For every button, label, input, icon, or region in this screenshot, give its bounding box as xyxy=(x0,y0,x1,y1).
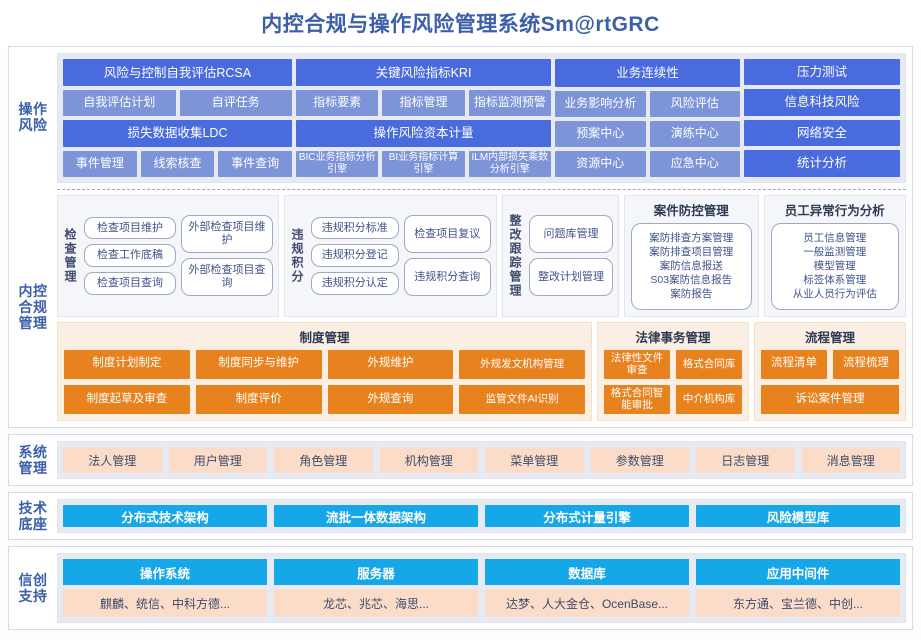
op-row: 事件管理 线索核查 事件查询 xyxy=(63,151,292,176)
operational-risk-section: 风险与控制自我评估RCSA 自我评估计划 自评任务 损失数据收集LDC 事件管理… xyxy=(57,53,906,183)
pill-item[interactable]: 外部检查项目查询 xyxy=(181,258,273,296)
panel-rectification-tracking: 整改跟踪管理 问题库管理 整改计划管理 xyxy=(502,195,619,317)
op-row: BIC业务指标分析引擎 BI业务指标计算引擎 ILM内部损失乘数分析引擎 xyxy=(296,151,551,176)
xc-body: 达梦、人大金仓、OcenBase... xyxy=(485,589,689,617)
orange-item[interactable]: 外规维护 xyxy=(328,350,454,379)
group-item: 案防报告 xyxy=(670,287,712,301)
op-header-ldc[interactable]: 损失数据收集LDC xyxy=(63,120,292,147)
xc-column-middleware: 应用中间件 东方通、宝兰德、中创... xyxy=(696,559,900,617)
op-item[interactable]: 线索核查 xyxy=(141,151,215,176)
sys-item-user[interactable]: 用户管理 xyxy=(169,447,268,473)
orange-column: 制度计划制定 制度起草及审查 xyxy=(64,350,190,414)
pill-item[interactable]: 违规积分登记 xyxy=(311,244,399,267)
op-header-rcsa[interactable]: 风险与控制自我评估RCSA xyxy=(63,59,292,86)
orange-box-policy-management: 制度管理 制度计划制定 制度起草及审查 制度同步与维护 制度评价 xyxy=(57,322,592,421)
orange-column: 格式合同库 中介机构库 xyxy=(676,350,742,414)
orange-box-title: 流程管理 xyxy=(761,327,899,346)
xc-head[interactable]: 数据库 xyxy=(485,559,689,585)
internal-control-top-row: 检查管理 检查项目维护 检查工作底稿 检查项目查询 外部检查项目维护 外部检查项… xyxy=(57,195,906,317)
tech-item-risk-model-lib[interactable]: 风险模型库 xyxy=(696,505,900,527)
op-item[interactable]: 指标管理 xyxy=(382,90,464,115)
strip-inner: 分布式技术架构 流批一体数据架构 分布式计量引擎 风险模型库 xyxy=(57,499,906,533)
orange-item[interactable]: 制度计划制定 xyxy=(64,350,190,379)
op-column-bcm: 业务连续性 业务影响分析 风险评估 预案中心 演练中心 资源中心 应急中心 xyxy=(555,59,740,177)
op-row: 预案中心 演练中心 xyxy=(555,121,740,147)
sys-item-menu[interactable]: 菜单管理 xyxy=(485,447,584,473)
xc-column-os: 操作系统 麒麟、统信、中科方德... xyxy=(63,559,267,617)
pill-item[interactable]: 检查项目复议 xyxy=(404,215,492,253)
op-item[interactable]: 演练中心 xyxy=(650,121,741,147)
orange-item[interactable]: 格式合同智能审批 xyxy=(604,385,670,414)
group-item: 案防排查方案管理 xyxy=(649,231,733,245)
card-body: 风险与控制自我评估RCSA 自我评估计划 自评任务 损失数据收集LDC 事件管理… xyxy=(57,47,912,427)
strip-inner: 操作系统 麒麟、统信、中科方德... 服务器 龙芯、兆芯、海思... 数据库 达… xyxy=(57,553,906,623)
xc-column-database: 数据库 达梦、人大金仓、OcenBase... xyxy=(485,559,689,617)
pill-item[interactable]: 问题库管理 xyxy=(529,215,613,253)
orange-grid: 法律性文件审查 格式合同智能审批 格式合同库 中介机构库 xyxy=(604,350,742,414)
internal-control-bottom-row: 制度管理 制度计划制定 制度起草及审查 制度同步与维护 制度评价 xyxy=(57,322,906,421)
orange-item[interactable]: 法律性文件审查 xyxy=(604,350,670,379)
strip-body: 操作系统 麒麟、统信、中科方德... 服务器 龙芯、兆芯、海思... 数据库 达… xyxy=(57,547,912,629)
op-item-statistics[interactable]: 统计分析 xyxy=(744,150,900,176)
op-column-kri: 关键风险指标KRI 指标要素 指标管理 指标监测预警 操作风险资本计量 BIC业… xyxy=(296,59,551,177)
orange-item[interactable]: 制度起草及审查 xyxy=(64,385,190,414)
orange-box-legal-affairs: 法律事务管理 法律性文件审查 格式合同智能审批 格式合同库 中介机构库 xyxy=(597,322,749,421)
rail-label-operational-risk: 操作风险 xyxy=(9,47,57,187)
op-item[interactable]: 应急中心 xyxy=(650,151,741,177)
group-item: 从业人员行为评估 xyxy=(793,287,877,301)
op-row: 自我评估计划 自评任务 xyxy=(63,90,292,115)
sys-item-message[interactable]: 消息管理 xyxy=(802,447,901,473)
xc-head[interactable]: 操作系统 xyxy=(63,559,267,585)
sys-item-org[interactable]: 机构管理 xyxy=(380,447,479,473)
group-item: 案防信息报送 xyxy=(660,259,723,273)
group-employee-behavior: 员工异常行为分析 员工信息管理 一般监测管理 模型管理 标签体系管理 从业人员行… xyxy=(765,196,906,316)
system-management-strip: 系统管理 法人管理 用户管理 角色管理 机构管理 菜单管理 参数管理 日志管理 … xyxy=(8,434,913,486)
panel-label: 整改跟踪管理 xyxy=(503,196,527,316)
sys-item-role[interactable]: 角色管理 xyxy=(274,447,373,473)
panel-content: 问题库管理 整改计划管理 xyxy=(527,196,618,316)
pill-item[interactable]: 检查工作底稿 xyxy=(84,244,176,267)
op-item[interactable]: 指标要素 xyxy=(296,90,378,115)
op-item[interactable]: ILM内部损失乘数分析引擎 xyxy=(469,151,551,176)
tech-item-stream-batch[interactable]: 流批一体数据架构 xyxy=(274,505,478,527)
op-header-kri[interactable]: 关键风险指标KRI xyxy=(296,59,551,86)
orange-box-title: 制度管理 xyxy=(64,327,585,346)
page-title-bar: 内控合规与操作风险管理系统Sm@rtGRC xyxy=(0,0,921,46)
orange-item[interactable]: 流程梳理 xyxy=(833,350,899,379)
group-title: 员工异常行为分析 xyxy=(771,200,900,219)
panel-label: 检查管理 xyxy=(58,196,82,316)
orange-row: 诉讼案件管理 xyxy=(761,385,899,414)
tech-item-metering-engine[interactable]: 分布式计量引擎 xyxy=(485,505,689,527)
orange-column: 外规维护 外规查询 xyxy=(328,350,454,414)
xc-column-server: 服务器 龙芯、兆芯、海思... xyxy=(274,559,478,617)
pill-column: 问题库管理 整改计划管理 xyxy=(529,201,613,311)
xc-head[interactable]: 服务器 xyxy=(274,559,478,585)
orange-box-title: 法律事务管理 xyxy=(604,327,742,346)
panel-label: 违规积分 xyxy=(285,196,309,316)
orange-item[interactable]: 诉讼案件管理 xyxy=(761,385,899,414)
group-item: 案防排查项目管理 xyxy=(649,245,733,259)
op-item-cyber-security[interactable]: 网络安全 xyxy=(744,120,900,146)
op-column-misc: 压力测试 信息科技风险 网络安全 统计分析 xyxy=(744,59,900,177)
group-item: 一般监测管理 xyxy=(803,245,866,259)
pill-column: 检查项目复议 违规积分查询 xyxy=(404,201,492,311)
section-divider xyxy=(57,189,906,190)
panel-violation-points: 违规积分 违规积分标准 违规积分登记 违规积分认定 检查项目复议 违规积分查询 xyxy=(284,195,497,317)
tech-item-distributed-arch[interactable]: 分布式技术架构 xyxy=(63,505,267,527)
sys-item-legal-entity[interactable]: 法人管理 xyxy=(63,447,162,473)
pill-column: 检查项目维护 检查工作底稿 检查项目查询 xyxy=(84,201,176,311)
strip-body: 分布式技术架构 流批一体数据架构 分布式计量引擎 风险模型库 xyxy=(57,493,912,539)
op-row: 指标要素 指标管理 指标监测预警 xyxy=(296,90,551,115)
orange-box-process-management: 流程管理 流程清单 流程梳理 诉讼案件管理 xyxy=(754,322,906,421)
orange-column: 法律性文件审查 格式合同智能审批 xyxy=(604,350,670,414)
rail-label-internal-control: 内控合规管理 xyxy=(9,187,57,427)
op-item[interactable]: 资源中心 xyxy=(555,151,646,177)
group-case-prevention: 案件防控管理 案防排查方案管理 案防排查项目管理 案防信息报送 S03案防信息报… xyxy=(625,196,758,316)
sys-item-log[interactable]: 日志管理 xyxy=(696,447,795,473)
orange-item[interactable]: 监管文件AI识别 xyxy=(459,385,585,414)
panel-case-prevention: 案件防控管理 案防排查方案管理 案防排查项目管理 案防信息报送 S03案防信息报… xyxy=(624,195,759,317)
group-item: S03案防信息报告 xyxy=(650,273,732,287)
orange-item[interactable]: 制度同步与维护 xyxy=(196,350,322,379)
op-item[interactable]: 自评任务 xyxy=(180,90,293,115)
orange-column: 外规发文机构管理 监管文件AI识别 xyxy=(459,350,585,414)
op-row: 资源中心 应急中心 xyxy=(555,151,740,177)
group-items[interactable]: 员工信息管理 一般监测管理 模型管理 标签体系管理 从业人员行为评估 xyxy=(771,223,900,310)
group-item: 标签体系管理 xyxy=(803,273,866,287)
rail-label-system-management: 系统管理 xyxy=(9,435,57,485)
op-item[interactable]: 事件查询 xyxy=(218,151,292,176)
xc-body: 麒麟、统信、中科方德... xyxy=(63,589,267,617)
op-item[interactable]: 风险评估 xyxy=(650,91,741,117)
op-item[interactable]: 自我评估计划 xyxy=(63,90,176,115)
pill-column: 外部检查项目维护 外部检查项目查询 xyxy=(181,201,273,311)
rail-label-xc-support: 信创支持 xyxy=(9,547,57,629)
orange-item[interactable]: 外规查询 xyxy=(328,385,454,414)
orange-grid: 流程清单 流程梳理 诉讼案件管理 xyxy=(761,350,899,414)
orange-column: 制度同步与维护 制度评价 xyxy=(196,350,322,414)
panel-content: 违规积分标准 违规积分登记 违规积分认定 检查项目复议 违规积分查询 xyxy=(309,196,496,316)
pill-column: 违规积分标准 违规积分登记 违规积分认定 xyxy=(311,201,399,311)
op-item[interactable]: 指标监测预警 xyxy=(469,90,551,115)
pill-item[interactable]: 违规积分标准 xyxy=(311,217,399,240)
strip-body: 法人管理 用户管理 角色管理 机构管理 菜单管理 参数管理 日志管理 消息管理 xyxy=(57,435,912,485)
page-title: 内控合规与操作风险管理系统Sm@rtGRC xyxy=(261,8,660,38)
op-header-capital[interactable]: 操作风险资本计量 xyxy=(296,120,551,147)
panel-employee-behavior: 员工异常行为分析 员工信息管理 一般监测管理 模型管理 标签体系管理 从业人员行… xyxy=(764,195,907,317)
op-row: 业务影响分析 风险评估 xyxy=(555,91,740,117)
op-header-bcm[interactable]: 业务连续性 xyxy=(555,59,740,87)
group-item: 员工信息管理 xyxy=(803,231,866,245)
xc-body: 东方通、宝兰德、中创... xyxy=(696,589,900,617)
panel-inspection-management: 检查管理 检查项目维护 检查工作底稿 检查项目查询 外部检查项目维护 外部检查项… xyxy=(57,195,279,317)
xc-body: 龙芯、兆芯、海思... xyxy=(274,589,478,617)
xc-support-strip: 信创支持 操作系统 麒麟、统信、中科方德... 服务器 龙芯、兆芯、海思... … xyxy=(8,546,913,630)
pill-item[interactable]: 违规积分查询 xyxy=(404,258,492,296)
orange-item[interactable]: 格式合同库 xyxy=(676,350,742,379)
pill-item[interactable]: 外部检查项目维护 xyxy=(181,215,273,253)
sys-item-parameter[interactable]: 参数管理 xyxy=(591,447,690,473)
group-title: 案件防控管理 xyxy=(631,200,752,219)
orange-item[interactable]: 流程清单 xyxy=(761,350,827,379)
left-rail: 操作风险 内控合规管理 xyxy=(9,47,57,427)
group-item: 模型管理 xyxy=(814,259,856,273)
op-item-it-risk[interactable]: 信息科技风险 xyxy=(744,89,900,115)
strip-inner: 法人管理 用户管理 角色管理 机构管理 菜单管理 参数管理 日志管理 消息管理 xyxy=(57,441,906,479)
xc-head[interactable]: 应用中间件 xyxy=(696,559,900,585)
tech-base-strip: 技术底座 分布式技术架构 流批一体数据架构 分布式计量引擎 风险模型库 xyxy=(8,492,913,540)
op-item[interactable]: 预案中心 xyxy=(555,121,646,147)
pill-item[interactable]: 整改计划管理 xyxy=(529,258,613,296)
group-items[interactable]: 案防排查方案管理 案防排查项目管理 案防信息报送 S03案防信息报告 案防报告 xyxy=(631,223,752,310)
pill-item[interactable]: 检查项目查询 xyxy=(84,272,176,295)
pill-item[interactable]: 检查项目维护 xyxy=(84,217,176,240)
op-item-stress-test[interactable]: 压力测试 xyxy=(744,59,900,85)
orange-item[interactable]: 中介机构库 xyxy=(676,385,742,414)
op-item[interactable]: 业务影响分析 xyxy=(555,91,646,117)
pill-item[interactable]: 违规积分认定 xyxy=(311,272,399,295)
orange-row: 流程清单 流程梳理 xyxy=(761,350,899,379)
op-item[interactable]: 事件管理 xyxy=(63,151,137,176)
internal-control-section: 检查管理 检查项目维护 检查工作底稿 检查项目查询 外部检查项目维护 外部检查项… xyxy=(57,195,906,421)
orange-grid: 制度计划制定 制度起草及审查 制度同步与维护 制度评价 外规维护 外规查询 xyxy=(64,350,585,414)
panel-content: 检查项目维护 检查工作底稿 检查项目查询 外部检查项目维护 外部检查项目查询 xyxy=(82,196,278,316)
orange-item[interactable]: 制度评价 xyxy=(196,385,322,414)
main-architecture-card: 操作风险 内控合规管理 风险与控制自我评估RCSA 自我评估计划 自评任务 损失… xyxy=(8,46,913,428)
op-column-rcsa: 风险与控制自我评估RCSA 自我评估计划 自评任务 损失数据收集LDC 事件管理… xyxy=(63,59,292,177)
rail-label-tech-base: 技术底座 xyxy=(9,493,57,539)
grc-architecture-diagram: 内控合规与操作风险管理系统Sm@rtGRC 操作风险 内控合规管理 风险与控制自… xyxy=(0,0,921,640)
op-item[interactable]: BIC业务指标分析引擎 xyxy=(296,151,378,176)
op-item[interactable]: BI业务指标计算引擎 xyxy=(382,151,464,176)
orange-item[interactable]: 外规发文机构管理 xyxy=(459,350,585,379)
